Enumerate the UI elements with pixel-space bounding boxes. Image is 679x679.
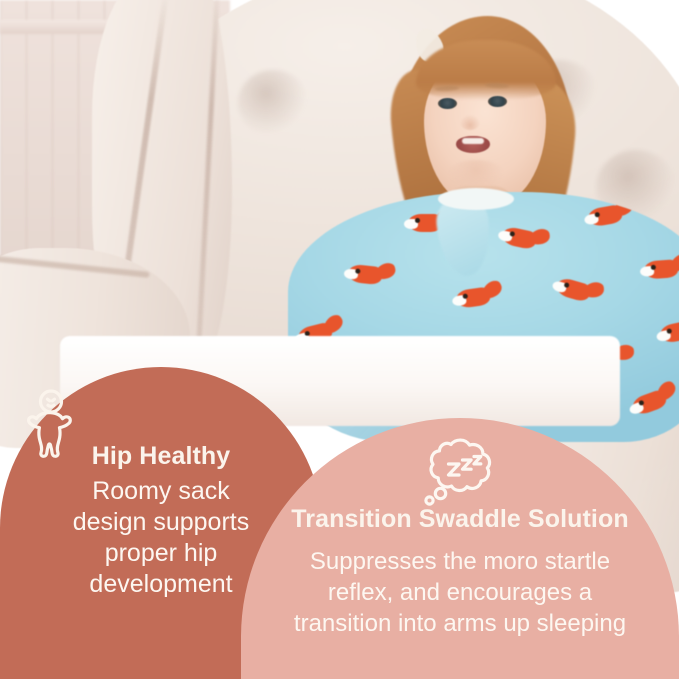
panel-body-line: reflex, and encourages a <box>263 577 657 608</box>
eye-left <box>438 98 457 109</box>
teeth <box>462 138 484 144</box>
fox-motif <box>658 314 679 349</box>
panel-body-transition-swaddle: Suppresses the moro startle reflex, and … <box>263 546 657 639</box>
sleep-cloud-zzz-icon <box>417 436 503 517</box>
eye-right <box>488 96 507 107</box>
fox-motif <box>454 281 501 313</box>
fox-motif <box>500 222 548 257</box>
panel-body-line: design supports <box>18 507 304 538</box>
baby-icon <box>22 389 80 464</box>
panel-body-line: transition into arms up sleeping <box>263 608 657 639</box>
fox-motif <box>629 381 679 420</box>
fox-motif <box>553 272 602 309</box>
panel-body-line: Suppresses the moro startle <box>263 546 657 577</box>
fox-motif <box>643 254 679 283</box>
fox-motif <box>347 260 393 290</box>
armchair-tuft <box>238 70 308 136</box>
product-feature-infographic: Hip Healthy Roomy sack design supports p… <box>0 0 679 679</box>
panel-body-line: Roomy sack <box>18 476 304 507</box>
fox-motif <box>586 198 634 231</box>
sleep-sack-collar <box>438 188 514 210</box>
nose <box>460 114 480 130</box>
